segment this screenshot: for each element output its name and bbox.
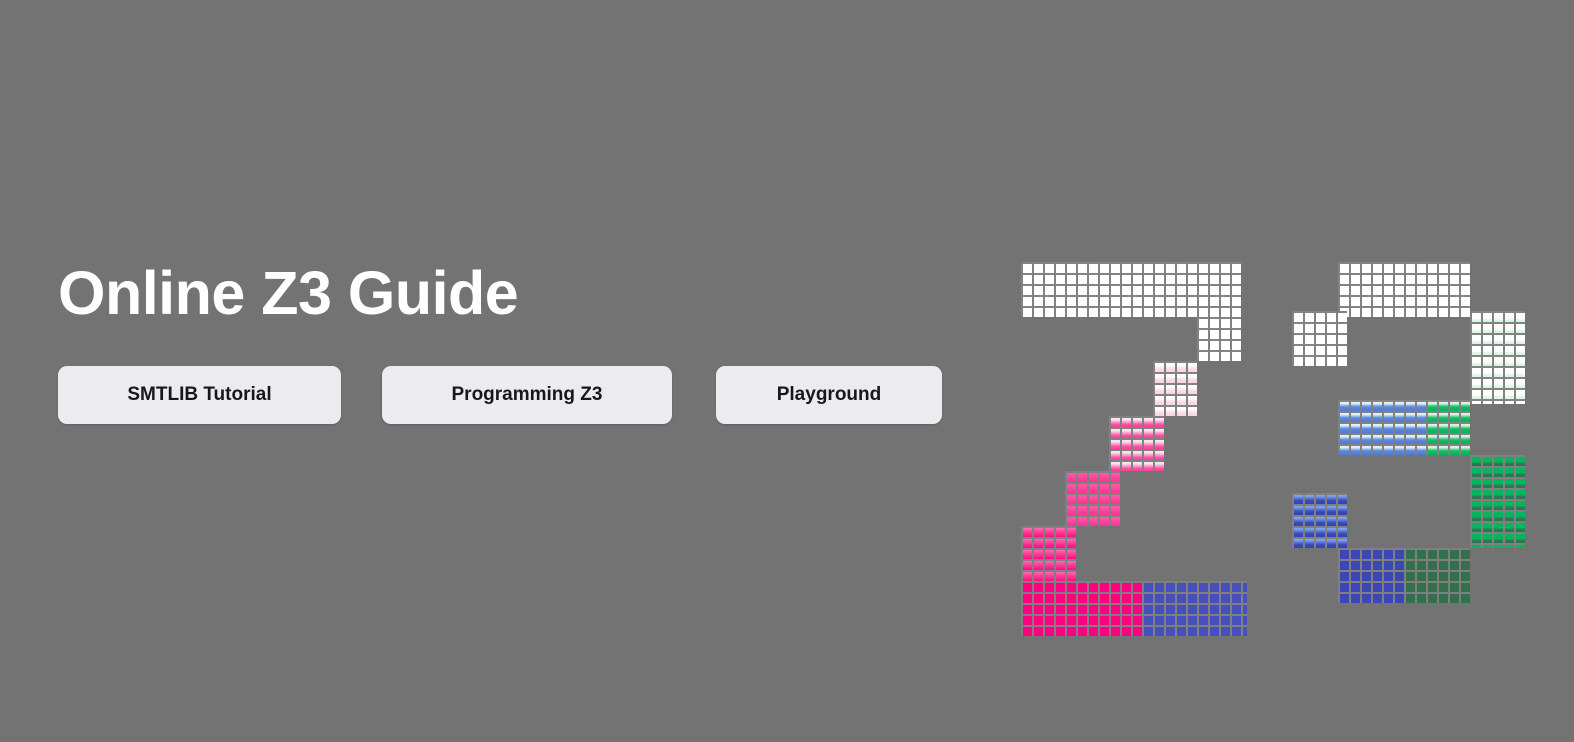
logo-3-middle-bar-blue <box>1338 400 1426 455</box>
logo-z-diagonal-step-4 <box>1065 471 1120 526</box>
z3-pixel-logo <box>1021 262 1521 582</box>
logo-3-top-bar <box>1338 262 1470 317</box>
logo-z-diagonal-step-5 <box>1021 526 1076 581</box>
programming-z3-button[interactable]: Programming Z3 <box>382 366 672 424</box>
logo-3-lower-right-column <box>1470 455 1525 548</box>
logo-3-bottom-bar-blue <box>1338 548 1404 603</box>
logo-z-diagonal-step-3 <box>1109 416 1164 471</box>
page-title: Online Z3 Guide <box>58 258 958 328</box>
logo-z-top-bar <box>1021 262 1241 317</box>
logo-3-lower-left-stub <box>1292 493 1347 548</box>
logo-z-diagonal-step-2 <box>1153 361 1197 416</box>
logo-z-bottom-bar-pink <box>1021 581 1142 636</box>
hero-button-row: SMTLIB Tutorial Programming Z3 Playgroun… <box>58 366 942 424</box>
hero-text-block: Online Z3 Guide <box>58 258 958 328</box>
logo-3-middle-bar-green <box>1426 400 1470 455</box>
hero-section: Online Z3 Guide SMTLIB Tutorial Programm… <box>0 0 1574 742</box>
smtlib-tutorial-button[interactable]: SMTLIB Tutorial <box>58 366 341 424</box>
logo-3-upper-right-column <box>1470 311 1525 404</box>
logo-3-upper-left-stub <box>1292 311 1347 366</box>
playground-button[interactable]: Playground <box>716 366 942 424</box>
logo-3-bottom-bar-green <box>1404 548 1470 603</box>
logo-z-upper-diagonal <box>1197 317 1241 361</box>
logo-z-bottom-bar-blue <box>1142 581 1247 636</box>
